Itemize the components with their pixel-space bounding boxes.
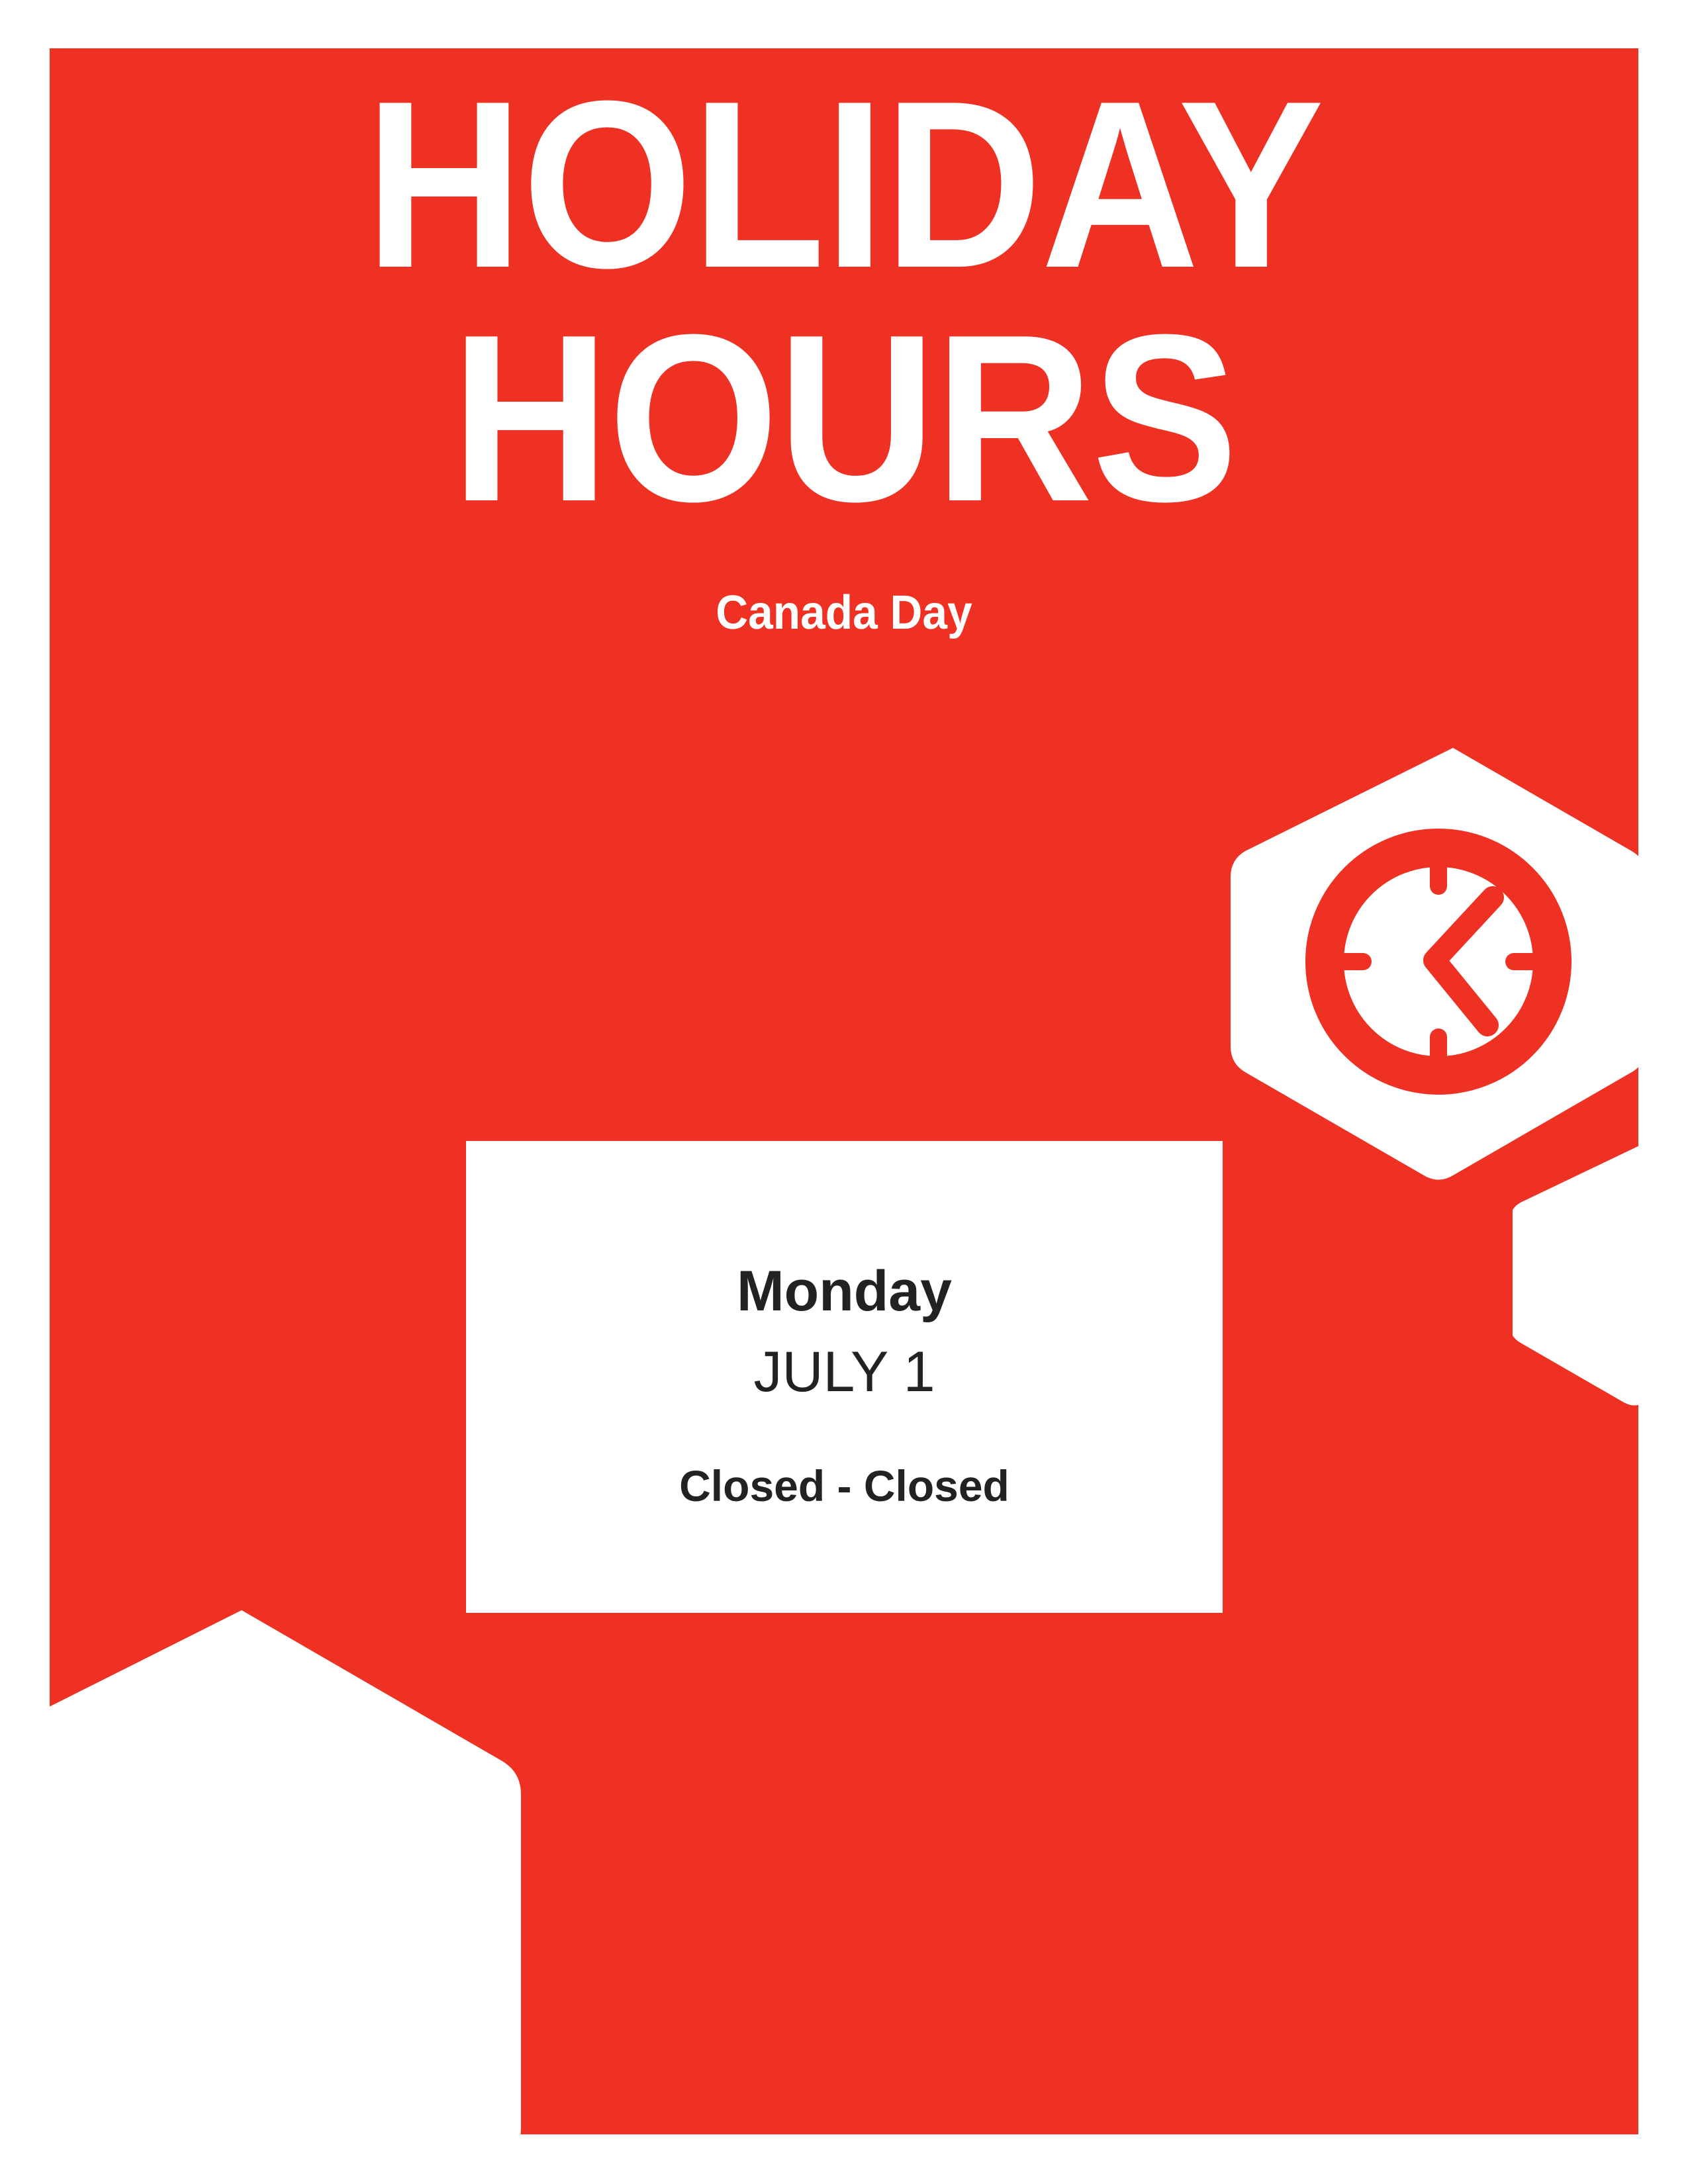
accent-hexagon-small — [1513, 1134, 1638, 1412]
holiday-hours-poster: HOLIDAY HOURS Canada Day — [0, 0, 1688, 2184]
accent-hexagon-large — [50, 1557, 526, 2134]
clock-icon — [1228, 730, 1638, 1193]
card-date-label: JULY 1 — [753, 1343, 935, 1400]
clock-hexagon-badge — [1228, 730, 1638, 1193]
card-day-label: Monday — [737, 1263, 952, 1320]
title-line-2: HOURS — [113, 302, 1575, 535]
card-hours-label: Closed - Closed — [679, 1464, 1009, 1508]
hexagon-icon — [1513, 1134, 1638, 1412]
title-line-1: HOLIDAY — [113, 68, 1575, 302]
hexagon-icon — [50, 1557, 526, 2134]
page-title: HOLIDAY HOURS — [113, 68, 1575, 535]
holiday-info-card: Monday JULY 1 Closed - Closed — [466, 1141, 1223, 1613]
red-background-panel: HOLIDAY HOURS Canada Day — [50, 48, 1638, 2134]
holiday-subtitle: Canada Day — [97, 586, 1591, 640]
